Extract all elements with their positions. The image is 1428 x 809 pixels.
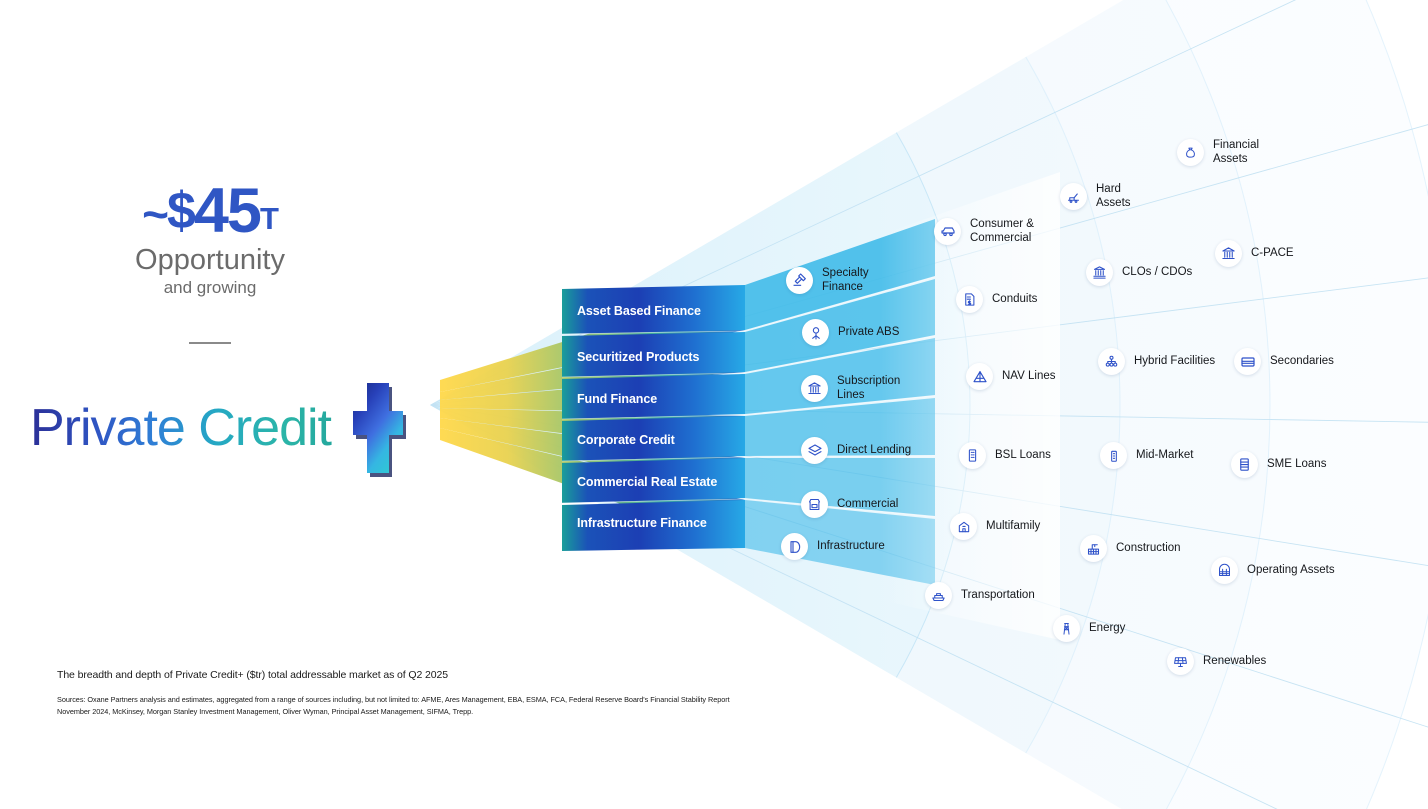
office-tower-icon (959, 442, 986, 469)
node-sme-loans[interactable]: SME Loans (1231, 451, 1326, 478)
house-icon (950, 513, 977, 540)
node-operating-assets[interactable]: Operating Assets (1211, 557, 1335, 584)
node-label: Subscription Lines (837, 374, 900, 403)
node-consumer-commercial[interactable]: Consumer & Commercial (934, 217, 1034, 246)
currency-symbol: $ (167, 182, 194, 240)
excavator-icon (1060, 183, 1087, 210)
node-private-abs[interactable]: Private ABS (802, 319, 899, 346)
node-direct-lending[interactable]: Direct Lending (801, 437, 911, 464)
node-label: Commercial (837, 497, 898, 511)
bank-columns-icon (1215, 240, 1242, 267)
node-label: Energy (1089, 621, 1125, 635)
node-nav-lines[interactable]: NAV Lines (966, 363, 1055, 390)
ship-icon (925, 582, 952, 609)
node-label: Transportation (961, 588, 1035, 602)
crane-icon (1080, 535, 1107, 562)
node-label: Conduits (992, 292, 1037, 306)
pylon-icon (1053, 615, 1080, 642)
triangle-chart-icon (966, 363, 993, 390)
ledger-icon (1231, 451, 1258, 478)
node-label: Infrastructure (817, 539, 885, 553)
node-label: Construction (1116, 541, 1181, 555)
headline-block: ~$45T Opportunity and growing (60, 180, 360, 344)
node-label: Secondaries (1270, 354, 1334, 368)
hierarchy-icon (1098, 348, 1125, 375)
node-subscription-lines[interactable]: Subscription Lines (801, 374, 900, 403)
tier1-label-fund-finance[interactable]: Fund Finance (577, 392, 657, 406)
node-label: Hard Assets (1096, 182, 1131, 211)
bank-icon (801, 375, 828, 402)
node-label: NAV Lines (1002, 369, 1055, 383)
tier1-label-infrastructure-finance[interactable]: Infrastructure Finance (577, 516, 707, 530)
node-commercial[interactable]: Commercial (801, 491, 898, 518)
node-label: Hybrid Facilities (1134, 354, 1215, 368)
node-renewables[interactable]: Renewables (1167, 648, 1266, 675)
small-tower-icon (1100, 442, 1127, 469)
node-clos-cdos[interactable]: CLOs / CDOs (1086, 259, 1192, 286)
node-label: Private ABS (838, 325, 899, 339)
node-hard-assets[interactable]: Hard Assets (1060, 182, 1131, 211)
node-label: C-PACE (1251, 246, 1294, 260)
node-specialty-finance[interactable]: Specialty Finance (786, 266, 869, 295)
market-size-value: ~$45T (60, 180, 360, 243)
node-bsl-loans[interactable]: BSL Loans (959, 442, 1051, 469)
gavel-icon (786, 267, 813, 294)
node-financial-assets[interactable]: Financial Assets (1177, 138, 1259, 167)
node-label: Operating Assets (1247, 563, 1335, 577)
document-dollar-icon (956, 286, 983, 313)
headline-caption: and growing (60, 278, 360, 298)
headline-subtitle: Opportunity (60, 245, 360, 277)
node-label: Multifamily (986, 519, 1040, 533)
tier1-label-securitized-products[interactable]: Securitized Products (577, 350, 699, 364)
node-label: Mid-Market (1136, 448, 1194, 462)
node-label: Direct Lending (837, 443, 911, 457)
solar-panel-icon (1167, 648, 1194, 675)
layers-icon (801, 437, 828, 464)
divider-rule (189, 342, 231, 344)
node-construction[interactable]: Construction (1080, 535, 1181, 562)
private-credit-plus-logo: Private Credit (30, 373, 407, 483)
node-label: SME Loans (1267, 457, 1326, 471)
layered-bank-icon (1086, 259, 1113, 286)
node-multifamily[interactable]: Multifamily (950, 513, 1040, 540)
building-grid-icon (1211, 557, 1238, 584)
node-label: Consumer & Commercial (970, 217, 1034, 246)
money-bag-icon (1177, 139, 1204, 166)
node-hybrid-facilities[interactable]: Hybrid Facilities (1098, 348, 1215, 375)
car-icon (934, 218, 961, 245)
card-icon (1234, 348, 1261, 375)
footer-caption: The breadth and depth of Private Credit+… (57, 669, 448, 681)
node-c-pace[interactable]: C-PACE (1215, 240, 1294, 267)
node-secondaries[interactable]: Secondaries (1234, 348, 1334, 375)
approx-symbol: ~ (142, 188, 167, 240)
node-label: BSL Loans (995, 448, 1051, 462)
footer-sources: Sources: Oxane Partners analysis and est… (57, 694, 757, 718)
logo-wordmark: Private Credit (30, 402, 339, 454)
tier1-band (490, 285, 745, 551)
storefront-icon (801, 491, 828, 518)
bridge-icon (781, 533, 808, 560)
node-energy[interactable]: Energy (1053, 615, 1125, 642)
node-label: Financial Assets (1213, 138, 1259, 167)
node-label: CLOs / CDOs (1122, 265, 1192, 279)
amount-number: 45 (194, 176, 260, 246)
tier1-label-corporate-credit[interactable]: Corporate Credit (577, 433, 675, 447)
node-infrastructure[interactable]: Infrastructure (781, 533, 885, 560)
tier1-label-asset-based-finance[interactable]: Asset Based Finance (577, 304, 701, 318)
node-transportation[interactable]: Transportation (925, 582, 1035, 609)
abs-network-icon (802, 319, 829, 346)
tier1-label-commercial-real-estate[interactable]: Commercial Real Estate (577, 475, 717, 489)
node-label: Specialty Finance (822, 266, 869, 295)
amount-unit: T (260, 201, 278, 236)
plus-symbol-icon (345, 373, 407, 483)
node-conduits[interactable]: Conduits (956, 286, 1037, 313)
node-label: Renewables (1203, 654, 1266, 668)
node-mid-market[interactable]: Mid-Market (1100, 442, 1194, 469)
infographic-canvas: ~$45T Opportunity and growing Private Cr… (0, 0, 1428, 809)
